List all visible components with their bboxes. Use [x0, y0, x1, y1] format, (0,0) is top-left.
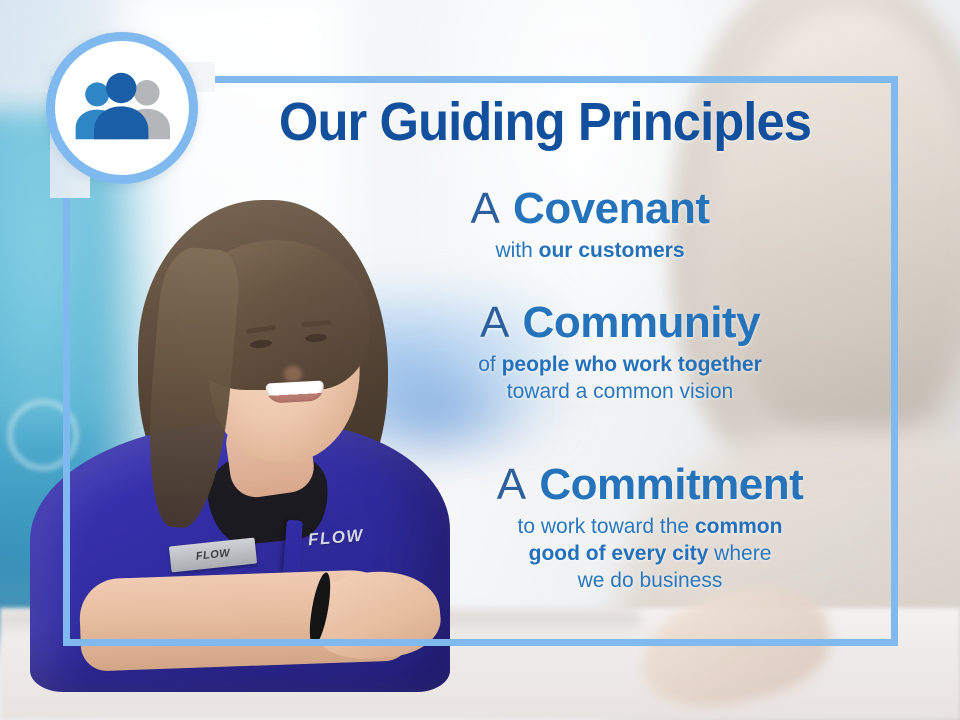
name-badge-logo-text: FLOW [195, 547, 230, 563]
banner-canvas: FLOW FLOW [0, 0, 960, 720]
blurred-customer-hair [720, 10, 960, 440]
employee-nose [284, 366, 302, 382]
employee-figure: FLOW FLOW [60, 160, 480, 720]
people-badge [46, 32, 198, 184]
people-group-icon [70, 72, 174, 144]
